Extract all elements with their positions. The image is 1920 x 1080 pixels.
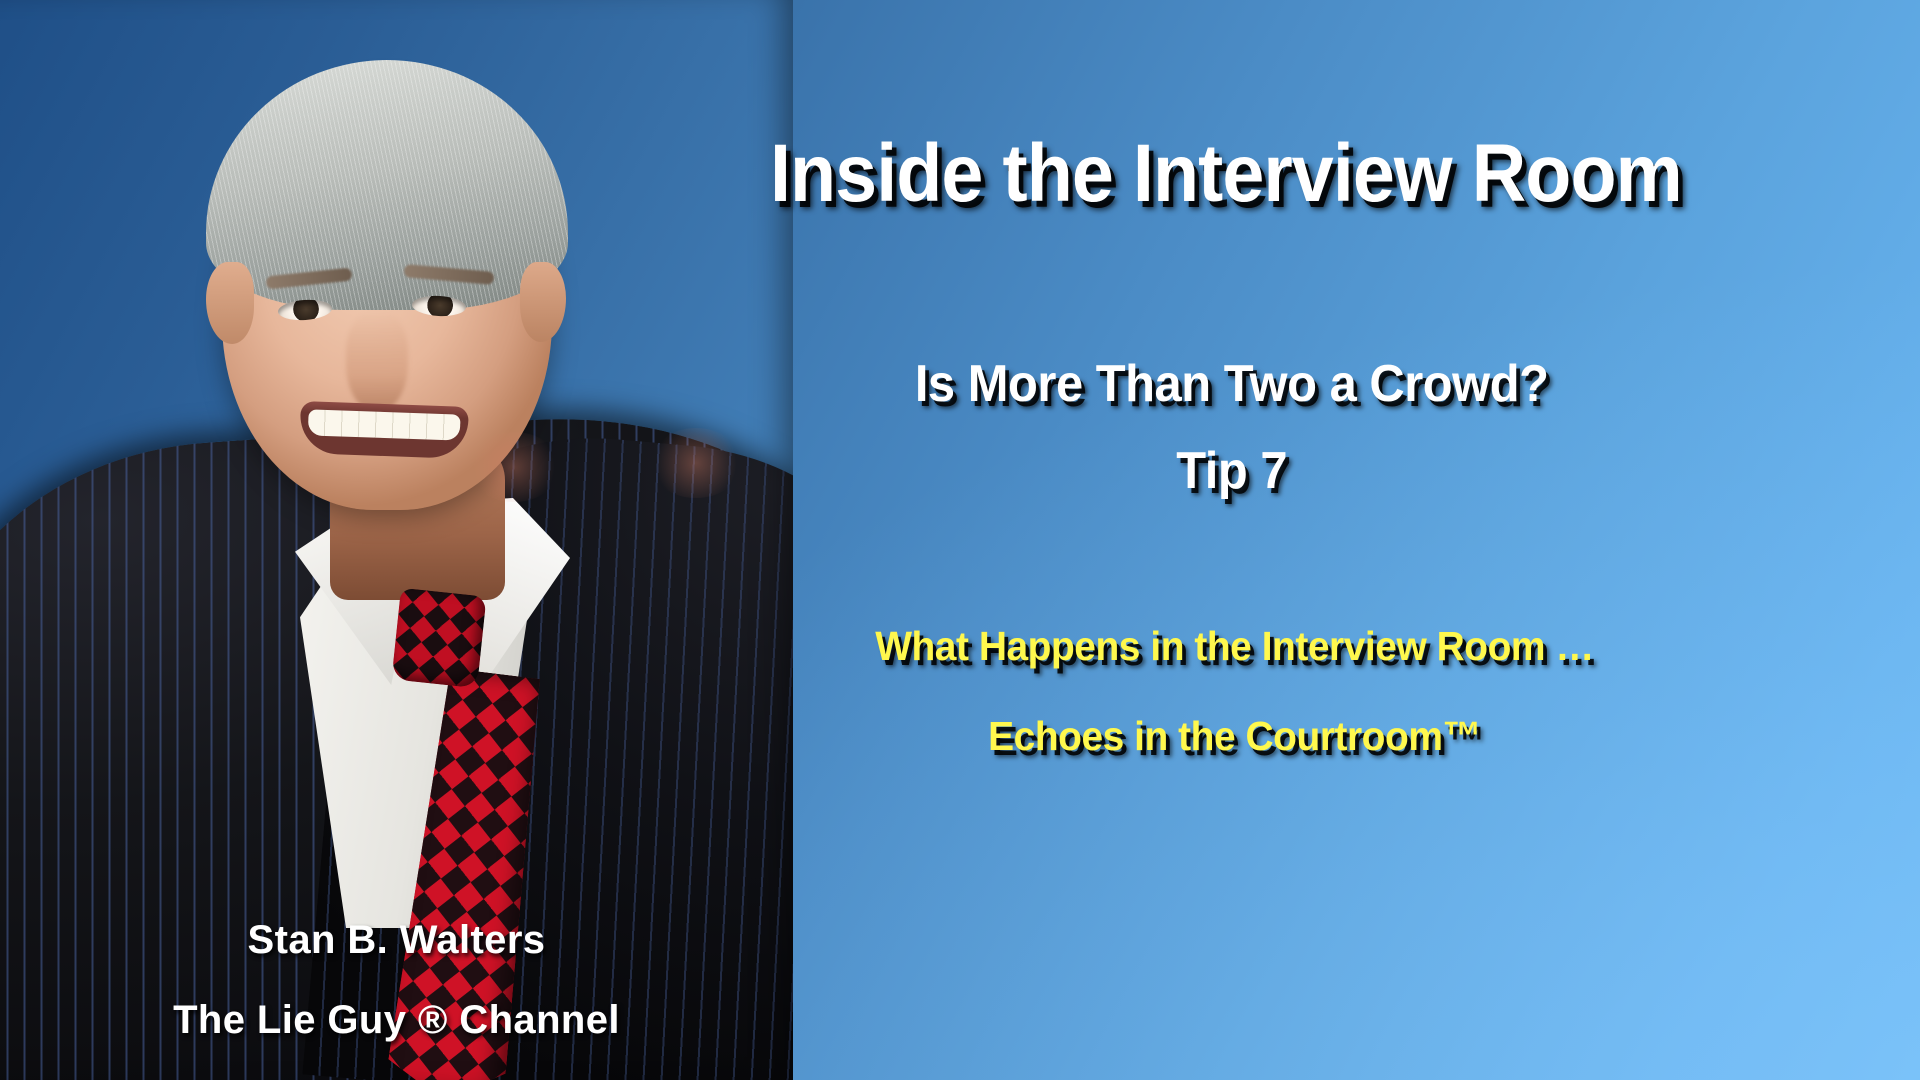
tagline-line-1: What Happens in the Interview Room … <box>48 626 1872 667</box>
slide-title: Inside the Interview Room <box>77 133 1843 215</box>
teeth <box>308 409 461 440</box>
ear-left <box>206 262 254 344</box>
presenter-channel: The Lie Guy ® Channel <box>0 1000 793 1040</box>
tagline-line-2: Echoes in the Courtroom™ <box>48 716 1872 757</box>
tip-number-label: Tip 7 <box>58 445 1863 497</box>
ear-right <box>520 262 566 342</box>
presenter-name: Stan B. Walters <box>0 920 793 960</box>
presentation-slide: Inside the Interview Room Is More Than T… <box>0 0 1920 1080</box>
slide-subtitle: Is More Than Two a Crowd? <box>58 358 1863 410</box>
